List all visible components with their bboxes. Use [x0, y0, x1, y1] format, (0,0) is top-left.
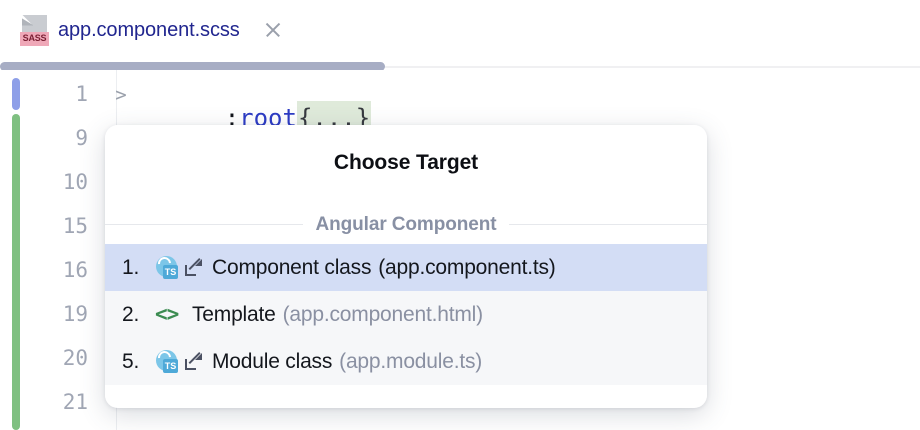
- typescript-component-icon: TS: [155, 349, 180, 374]
- list-item-component-class[interactable]: 1. TS Component class (app.component.ts): [105, 244, 707, 291]
- external-link-icon: [185, 259, 202, 276]
- list-item-label: Template: [192, 303, 276, 327]
- editor-window: SASS app.component.scss 1 9 10 15 16 19 …: [0, 0, 920, 430]
- separator-rule-left: [105, 224, 303, 225]
- line-number: 15: [28, 216, 88, 237]
- line-number: 16: [28, 260, 88, 281]
- line-number: 10: [28, 172, 88, 193]
- popup-group-separator: Angular Component: [105, 205, 707, 244]
- list-item-mnemonic: 1.: [122, 256, 155, 280]
- list-item-mnemonic: 5.: [122, 350, 155, 374]
- list-item-file: (app.module.ts): [339, 350, 482, 374]
- icon-group: TS: [155, 255, 202, 280]
- popup-footer: [105, 385, 707, 407]
- html-tag-icon: <>: [155, 304, 182, 325]
- external-link-icon: [185, 353, 202, 370]
- choose-target-popup[interactable]: Choose Target Angular Component 1. TS: [105, 125, 707, 408]
- popup-group-label: Angular Component: [303, 214, 510, 236]
- list-item-template[interactable]: 2. <> Template (app.component.html): [105, 291, 707, 338]
- icon-group: <>: [155, 304, 182, 325]
- list-item-file: (app.component.ts): [378, 256, 555, 280]
- editor-tab-title: app.component.scss: [58, 19, 240, 42]
- line-number: 1: [28, 84, 88, 105]
- close-icon[interactable]: [263, 20, 283, 40]
- sass-badge-label: SASS: [20, 32, 49, 46]
- editor-tab-app-component-scss[interactable]: SASS app.component.scss: [14, 0, 289, 60]
- line-number: 9: [28, 128, 88, 149]
- list-item-file: (app.component.html): [283, 303, 483, 327]
- separator-rule-right: [509, 224, 707, 225]
- editor-tab-bar: SASS app.component.scss: [0, 0, 920, 60]
- line-number: 20: [28, 348, 88, 369]
- popup-title: Choose Target: [105, 151, 707, 175]
- gutter-change-marker-blue[interactable]: [12, 78, 20, 110]
- ts-badge-label: TS: [163, 359, 178, 373]
- code-fold-arrow-icon[interactable]: >: [112, 86, 130, 105]
- target-list: 1. TS Component class (app.component.ts): [105, 244, 707, 385]
- list-item-label: Component class: [212, 256, 371, 280]
- gutter-change-marker-green[interactable]: [12, 114, 20, 430]
- icon-group: TS: [155, 349, 202, 374]
- list-item-label: Module class: [212, 350, 332, 374]
- list-item-module-class[interactable]: 5. TS Module class (app.module.ts): [105, 338, 707, 385]
- line-number: 19: [28, 304, 88, 325]
- sass-file-icon: SASS: [20, 15, 49, 46]
- typescript-component-icon: TS: [155, 255, 180, 280]
- popup-header: Choose Target: [105, 125, 707, 205]
- line-number: 21: [28, 392, 88, 413]
- list-item-mnemonic: 2.: [122, 303, 155, 327]
- ts-badge-label: TS: [163, 265, 178, 279]
